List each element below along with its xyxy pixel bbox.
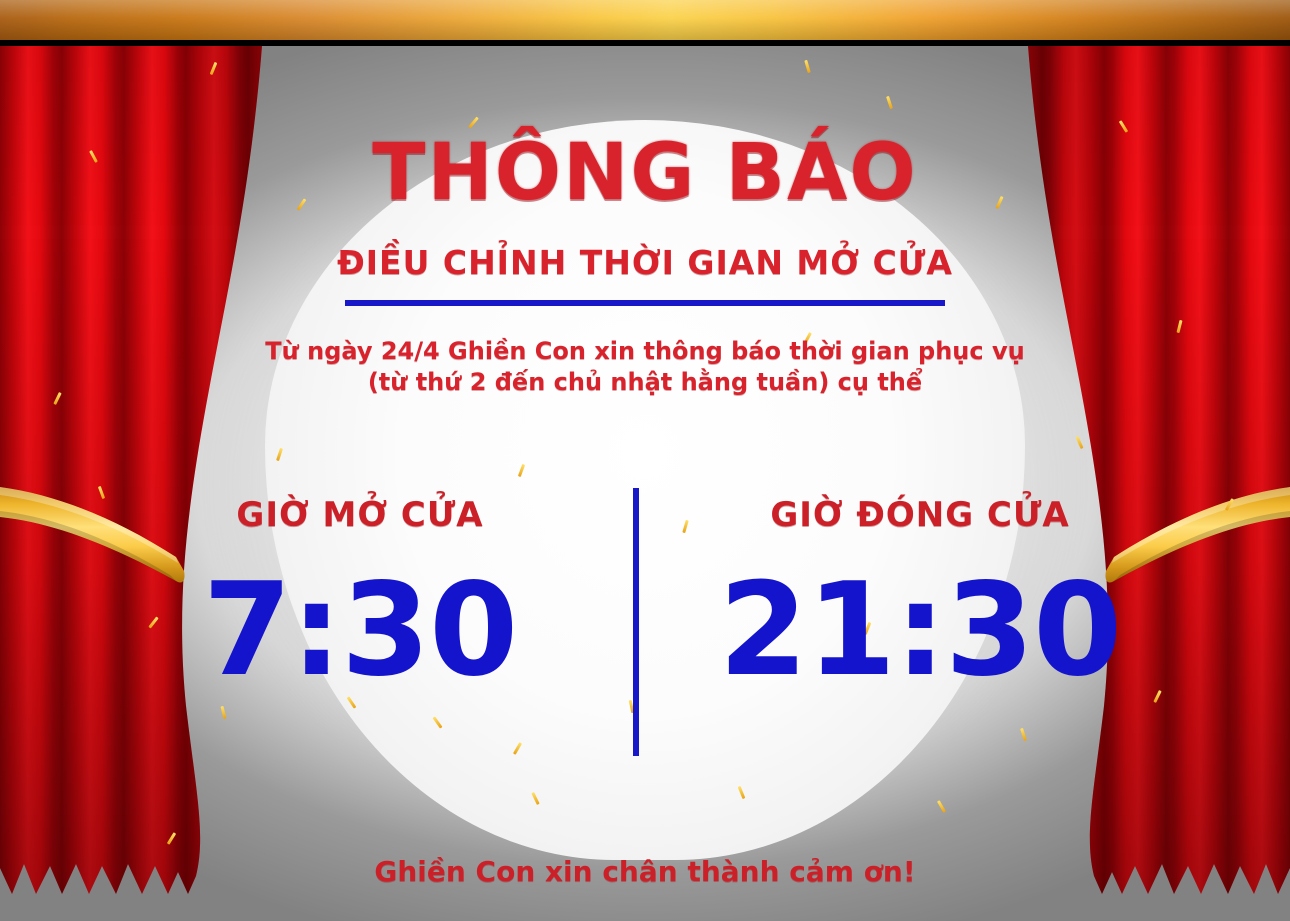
- page-subtitle: ĐIỀU CHỈNH THỜI GIAN MỞ CỬA: [0, 243, 1290, 282]
- announcement-poster: THÔNG BÁO ĐIỀU CHỈNH THỜI GIAN MỞ CỬA Từ…: [0, 0, 1290, 921]
- poster-content: THÔNG BÁO ĐIỀU CHỈNH THỜI GIAN MỞ CỬA Từ…: [0, 0, 1290, 921]
- page-title: THÔNG BÁO: [0, 128, 1290, 218]
- opening-hours-time: 7:30: [145, 567, 575, 695]
- closing-hours-column: GIỜ ĐÓNG CỬA 21:30: [705, 495, 1135, 695]
- closing-hours-label: GIỜ ĐÓNG CỬA: [705, 495, 1135, 535]
- opening-hours-column: GIỜ MỞ CỬA 7:30: [145, 495, 575, 695]
- opening-hours-label: GIỜ MỞ CỬA: [145, 495, 575, 535]
- lead-line-1: Từ ngày 24/4 Ghiền Con xin thông báo thờ…: [0, 336, 1290, 367]
- vertical-divider: [633, 488, 639, 756]
- lead-line-2: (từ thứ 2 đến chủ nhật hằng tuần) cụ thể: [0, 367, 1290, 398]
- footer-thanks: Ghiền Con xin chân thành cảm ơn!: [0, 855, 1290, 888]
- closing-hours-time: 21:30: [705, 567, 1135, 695]
- horizontal-rule: [345, 300, 945, 306]
- lead-paragraph: Từ ngày 24/4 Ghiền Con xin thông báo thờ…: [0, 336, 1290, 398]
